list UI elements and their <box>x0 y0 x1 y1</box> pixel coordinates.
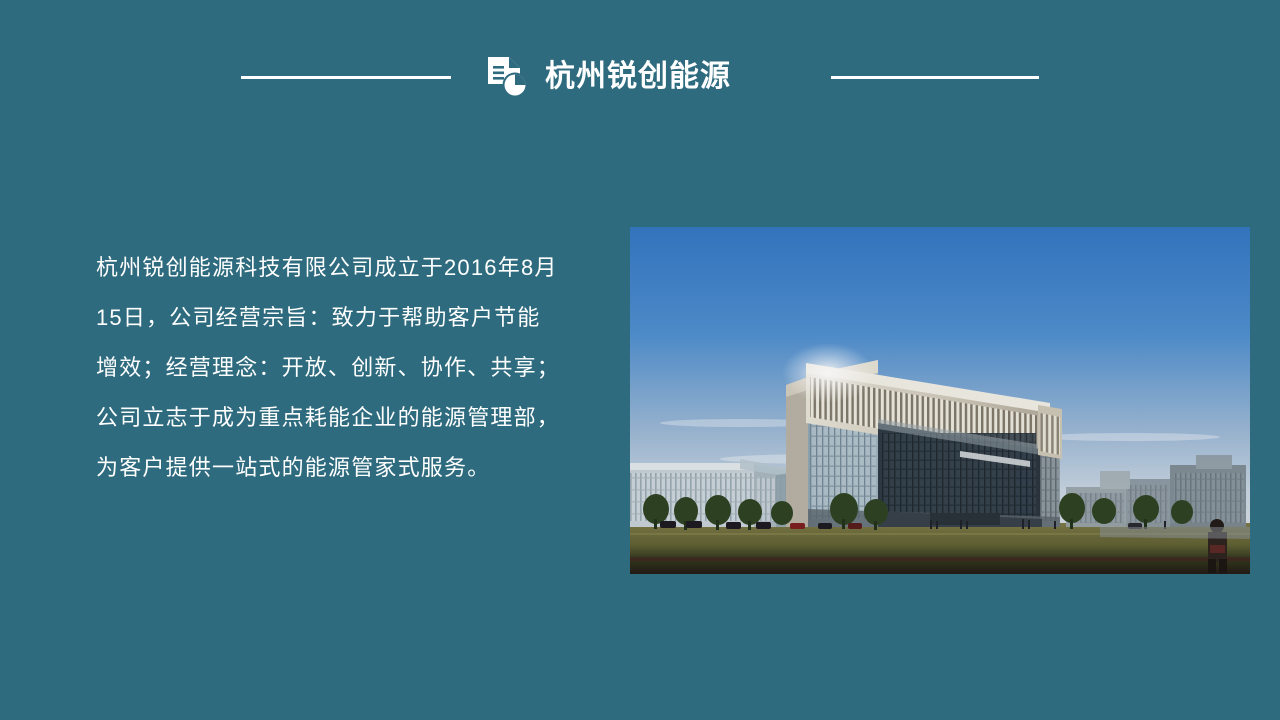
brand-lockup: 杭州锐创能源 <box>483 53 731 101</box>
document-chart-icon <box>483 53 531 101</box>
horizontal-rule-left-icon <box>241 76 451 79</box>
office-building-photo <box>630 227 1250 574</box>
company-description: 杭州锐创能源科技有限公司成立于2016年8月 15日，公司经营宗旨：致力于帮助客… <box>96 243 606 493</box>
description-line: 杭州锐创能源科技有限公司成立于2016年8月 <box>96 243 606 293</box>
description-line: 公司立志于成为重点耗能企业的能源管理部， <box>96 393 606 443</box>
description-line: 15日，公司经营宗旨：致力于帮助客户节能 <box>96 293 606 343</box>
slide: 杭州锐创能源 杭州锐创能源科技有限公司成立于2016年8月 15日，公司经营宗旨… <box>0 0 1280 720</box>
description-line: 增效；经营理念：开放、创新、协作、共享； <box>96 343 606 393</box>
horizontal-rule-right-icon <box>831 76 1039 79</box>
slide-header: 杭州锐创能源 <box>0 52 1280 102</box>
page-title: 杭州锐创能源 <box>545 62 731 92</box>
description-line: 为客户提供一站式的能源管家式服务。 <box>96 443 606 493</box>
